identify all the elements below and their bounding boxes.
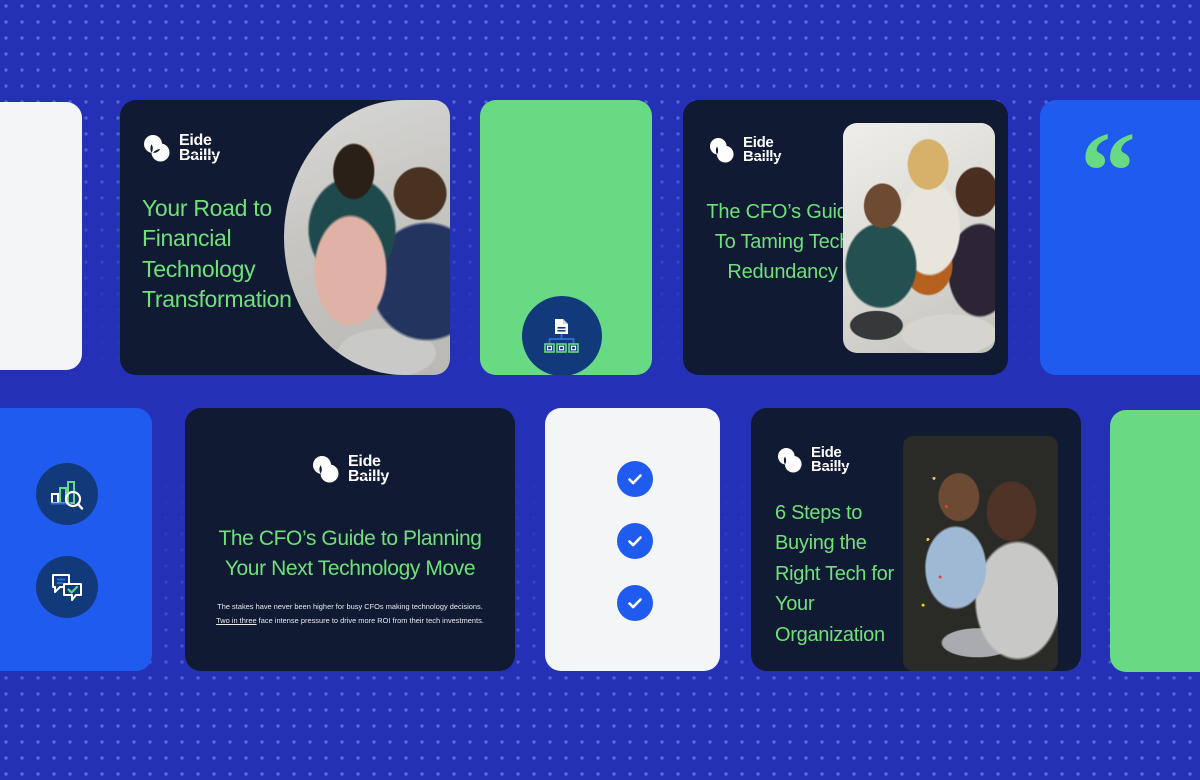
check-circle-icon[interactable] <box>617 523 653 559</box>
card-body-text: The stakes have never been higher for bu… <box>211 600 489 629</box>
checklist-card[interactable] <box>545 408 720 671</box>
check-circle-icon[interactable] <box>617 461 653 497</box>
logo-line-1: Eide <box>179 133 220 148</box>
eide-bailly-logo: Eide Bailly <box>142 133 220 163</box>
card-headline: 6 Steps to Buying the Right Tech for You… <box>775 498 915 650</box>
card-photo <box>903 436 1058 671</box>
body-line-1: The stakes have never been higher for bu… <box>217 602 483 611</box>
eide-bailly-logo: Eide Bailly <box>708 136 781 164</box>
card-headline: The CFO’s Guide To Taming Tech Redundanc… <box>705 197 860 287</box>
check-circle-icon[interactable] <box>617 585 653 621</box>
eide-bailly-mark-icon <box>708 138 736 163</box>
document-org-chart-icon[interactable] <box>522 296 602 375</box>
eide-bailly-logo: Eide Bailly <box>185 454 515 484</box>
card-photo <box>284 100 450 375</box>
green-card-right[interactable] <box>1110 410 1200 672</box>
white-card-left[interactable] <box>0 102 82 370</box>
icon-tiles-card[interactable] <box>0 408 152 671</box>
logo-line-2: Bailly <box>179 148 220 163</box>
card-headline: The CFO’s Guide to Planning Your Next Te… <box>199 524 501 585</box>
eide-bailly-mark-icon <box>311 456 341 483</box>
quote-card[interactable]: “ <box>1040 100 1200 375</box>
cfo-guide-taming-tech-redundancy-card[interactable]: Eide Bailly The CFO’s Guide To Taming Te… <box>683 100 1008 375</box>
body-inline-link[interactable]: Two in three <box>216 616 257 625</box>
logo-line-2: Bailly <box>348 469 389 484</box>
poster-canvas: Eide Bailly Your Road to Financial Techn… <box>0 0 1200 780</box>
chat-check-icon[interactable] <box>36 556 98 618</box>
cfo-guide-planning-card[interactable]: Eide Bailly The CFO’s Guide to Planning … <box>185 408 515 671</box>
your-road-card[interactable]: Eide Bailly Your Road to Financial Techn… <box>120 100 450 375</box>
logo-line-2: Bailly <box>743 150 781 164</box>
card-photo <box>843 123 995 353</box>
eide-bailly-logo: Eide Bailly <box>776 446 849 474</box>
logo-line-2: Bailly <box>811 460 849 474</box>
body-line-2: face intense pressure to drive more ROI … <box>257 616 484 625</box>
bar-chart-search-icon[interactable] <box>36 463 98 525</box>
six-steps-buying-tech-card[interactable]: Eide Bailly 6 Steps to Buying the Right … <box>751 408 1081 671</box>
logo-line-1: Eide <box>348 454 389 469</box>
eide-bailly-mark-icon <box>776 448 804 473</box>
quotation-mark-icon: “ <box>1080 116 1136 228</box>
eide-bailly-mark-icon <box>142 135 172 162</box>
document-hierarchy-card[interactable] <box>480 100 652 375</box>
